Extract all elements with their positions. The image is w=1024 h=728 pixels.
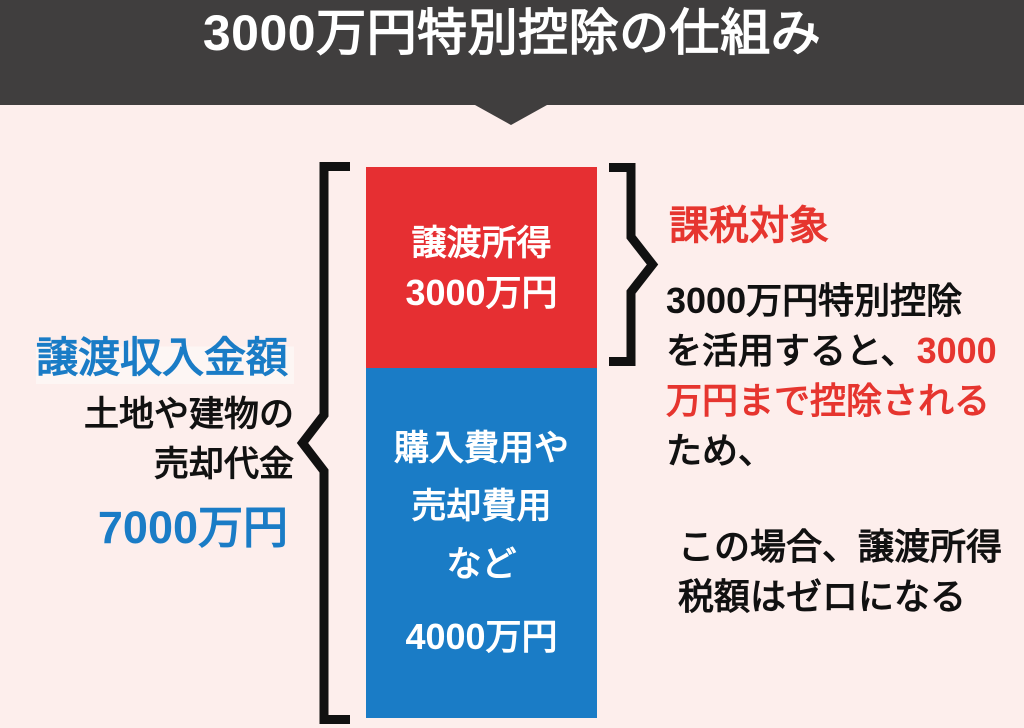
- bar-segment-costs: 購入費用や 売却費用 など 4000万円: [366, 368, 597, 718]
- bar-segment-capital-gain-amount: 3000万円: [405, 268, 557, 317]
- right-paragraph-1-line-1: 3000万円特別控除: [666, 276, 1024, 326]
- right-paragraph-1-line-4: ため、: [666, 426, 1024, 476]
- header-notch-triangle: [475, 105, 547, 125]
- paragraph-spacer: [666, 476, 1024, 522]
- right-brace-icon: [607, 163, 657, 366]
- left-description-line-1: 土地や建物の: [0, 390, 294, 440]
- right-paragraph-1-line-2-black: を活用すると、: [666, 330, 917, 371]
- right-paragraph-2-line-1-red: 譲渡所得: [858, 526, 1002, 567]
- left-description: 土地や建物の 売却代金: [0, 390, 294, 490]
- right-paragraph-1: 3000万円特別控除 を活用すると、3000 万円まで控除される ため、: [666, 276, 1024, 476]
- right-paragraph-2-line-1-black: この場合、: [678, 526, 858, 567]
- left-column: 譲渡収入金額 土地や建物の 売却代金 7000万円: [0, 332, 294, 556]
- bar-segment-costs-label-3: など: [446, 536, 516, 594]
- right-paragraph-2-line-1: この場合、譲渡所得: [678, 522, 1024, 572]
- right-paragraph-1-line-2: を活用すると、3000: [666, 326, 1024, 376]
- infographic-root: 3000万円特別控除の仕組み 譲渡収入金額 土地や建物の 売却代金 7000万円…: [0, 0, 1024, 728]
- bar-segment-costs-label-2: 売却費用: [411, 478, 551, 536]
- left-amount-value: 7000万円: [0, 500, 294, 556]
- bar-segment-costs-label-1: 購入費用や: [394, 420, 569, 478]
- right-paragraph-1-line-2-red: 3000: [917, 330, 997, 371]
- right-column: 課税対象 3000万円特別控除 を活用すると、3000 万円まで控除される ため…: [666, 202, 1024, 622]
- right-paragraph-2-line-2: 税額はゼロになる: [678, 572, 1024, 622]
- left-description-line-2: 売却代金: [0, 440, 294, 490]
- right-paragraph-2: この場合、譲渡所得 税額はゼロになる: [678, 522, 1024, 622]
- right-heading-taxable: 課税対象: [669, 202, 1024, 250]
- bar-segment-capital-gain: 譲渡所得 3000万円: [366, 167, 597, 368]
- page-title: 3000万円特別控除の仕組み: [0, 8, 1024, 58]
- header-banner: 3000万円特別控除の仕組み: [0, 0, 1024, 105]
- left-brace-icon: [298, 162, 354, 724]
- bar-segment-costs-amount: 4000万円: [405, 608, 557, 666]
- left-heading-transfer-income: 譲渡収入金額: [36, 332, 294, 384]
- right-paragraph-1-line-3: 万円まで控除される: [666, 376, 1024, 426]
- stacked-bar-chart: 譲渡所得 3000万円 購入費用や 売却費用 など 4000万円: [366, 167, 597, 718]
- bar-segment-capital-gain-label: 譲渡所得: [411, 219, 551, 268]
